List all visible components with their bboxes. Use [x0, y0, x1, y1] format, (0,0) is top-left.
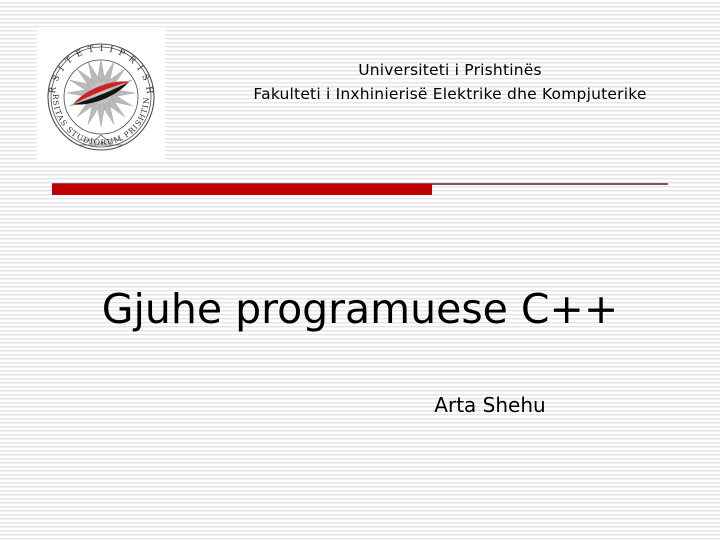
institution-header: Universiteti i Prishtinës Fakulteti i In…: [210, 58, 690, 106]
presentation-slide: U N I V E R S I T E T I I P R I S H T I …: [0, 0, 720, 540]
university-logo: U N I V E R S I T E T I I P R I S H T I …: [37, 27, 165, 160]
author-name: Arta Shehu: [320, 392, 660, 418]
svg-text:1970 SHKURT: 1970 SHKURT: [88, 141, 114, 145]
university-seal-icon: U N I V E R S I T E T I I P R I S H T I …: [37, 27, 165, 160]
page-title: Gjuhe programuese C++: [60, 283, 660, 335]
divider-rule: [52, 183, 668, 195]
university-name: Universiteti i Prishtinës: [210, 58, 690, 82]
faculty-name: Fakulteti i Inxhinierisë Elektrike dhe K…: [210, 82, 690, 106]
divider-thick-bar: [52, 184, 432, 195]
